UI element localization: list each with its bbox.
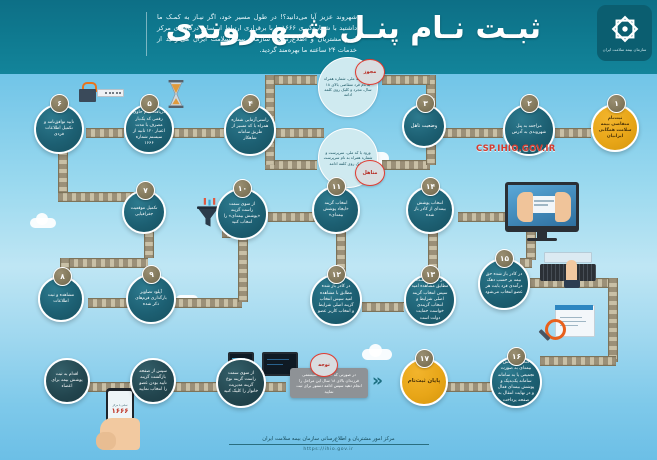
step-text: راستی‌آزمایی شماره همراه با کد مسیر از ط… (226, 118, 274, 143)
step-number-13: ۱۳ (421, 265, 440, 284)
step-number-7: ۷ (136, 181, 155, 200)
path-segment (170, 128, 224, 138)
badge-label: متاهل (363, 170, 378, 176)
step-number-8: ۸ (53, 267, 72, 286)
step-number-3: ۳ (416, 94, 435, 113)
step-number-6: ۶ (50, 94, 69, 113)
step-text: انتخاب پوشش بیمه‌ای از کادر باز شده (408, 201, 452, 220)
path-segment (174, 298, 242, 308)
badge-label: مجوز (364, 69, 377, 75)
attention-badge: توجه (310, 353, 338, 377)
header-subtitle: شهروند عزیز آیا می‌دانید؟! در طول مسیر خ… (146, 12, 357, 56)
step-text: در کادر باز شده مطابق با مشاهده امید سپس… (312, 284, 360, 315)
portal-url[interactable]: CSP.IHIO.GOV.IR (476, 144, 556, 154)
extra-node-text: اقدام به ثبت پوشش بیمه برای اعضاء (46, 372, 88, 391)
step-text: دریافت پیام حاوی رقمی کد یک‌بار مصرف با … (126, 110, 172, 147)
step-number-5: ۵ (140, 94, 159, 113)
footer-org: مرکز امور مشتریان و اطلاع‌رسانی سازمان ب… (0, 436, 657, 442)
logo-caption: سازمان بیمه سلامت ایران (603, 47, 647, 52)
cloud-icon (36, 213, 48, 225)
extra-node-a[interactable]: سپس از صفحه بازگشت گزینه تایید بودن عضو … (130, 358, 176, 404)
step-text: تایید توافق‌نامه و تکمیل اطلاعات فردی (36, 120, 82, 139)
step-number-16: ۱۶ (507, 347, 526, 366)
path-segment (60, 258, 148, 268)
phone-number: ۱۶۶۶ (111, 407, 128, 415)
step-text: تکمیل موقعیت جغرافیایی (124, 206, 164, 218)
path-segment (426, 145, 436, 165)
step-text: مشاهده و ثبت اطلاعات (40, 293, 82, 305)
organization-logo: سازمان بیمه سلامت ایران (597, 5, 652, 61)
footer-url[interactable]: https://ihio.gov.ir (0, 447, 657, 452)
step-text: در کادر باز شده مطابق مشاهده امید سپس ان… (406, 278, 454, 321)
step-number-14: ۱۴ (421, 177, 440, 196)
step-number-1: ۱ (607, 94, 626, 113)
path-segment (362, 302, 404, 312)
extra-node-c[interactable]: از منوی سمت راست گزینه نوع گزینه مدیریت … (216, 358, 266, 408)
path-segment (608, 278, 618, 362)
infographic-root: ثبـت نـام پنـل شـهـروندی شهروند عزیز آیا… (0, 0, 657, 460)
chevron-left-icon: « (372, 373, 383, 390)
footer-divider (229, 444, 429, 445)
cloud-icon (369, 344, 382, 357)
step-text: ثبت‌نام متقاضی بیمه سلامت همگانی ایرانیا… (593, 116, 637, 141)
step-number-12: ۱۲ (327, 265, 346, 284)
path-segment (264, 382, 286, 392)
step-text: پایان ثبت‌نام (403, 378, 446, 385)
step-text: مراجعه به پنل شهروندی به آدرس (505, 124, 553, 136)
path-segment (276, 128, 324, 138)
step-text: آپلود تصاویر بارگذاری فرم‌های ذکر شده (128, 290, 174, 309)
step-number-15: ۱۵ (495, 249, 514, 268)
path-segment (540, 356, 616, 366)
extra-node-b[interactable]: اقدام به ثبت پوشش بیمه برای اعضاء (44, 358, 90, 404)
step-number-10: ۱۰ (233, 179, 252, 198)
step-number-4: ۴ (241, 94, 260, 113)
status-badge-mojaz: مجوز (355, 59, 385, 85)
step-number-2: ۲ (520, 94, 539, 113)
step-number-17: ۱۷ (415, 349, 434, 368)
step-text: در کادر باز شده حق بیمه بر حسب دهک درآمد… (480, 272, 528, 297)
step-number-9: ۹ (142, 265, 161, 284)
star-medallion-icon (610, 14, 640, 44)
step-text: از منوی سمت راست گزینه «پوشش بیمه‌ای» را… (218, 202, 266, 227)
status-badge-motaahel: متاهل (355, 160, 385, 186)
step-number-11: ۱۱ (327, 177, 346, 196)
step-text: وضعیت تاهل (406, 123, 442, 130)
step-text: انتخاب پوشش بیمه‌ای به صورت تجمیعی یا به… (492, 360, 540, 403)
footer: مرکز امور مشتریان و اطلاع‌رسانی سازمان ب… (0, 436, 657, 452)
extra-node-text: سپس از صفحه بازگشت گزینه تایید بودن عضو … (132, 369, 174, 394)
path-segment (172, 382, 220, 392)
path-segment (382, 160, 430, 170)
badge-label: توجه (318, 362, 330, 368)
path-segment (382, 75, 430, 85)
path-segment (555, 128, 591, 138)
path-segment (86, 128, 124, 138)
hourglass-icon (166, 80, 186, 112)
step-text: انتخاب گزینه «ایجاد پوشش بیمه‌ای» (314, 201, 358, 220)
path-segment (443, 128, 503, 138)
extra-node-text: از منوی سمت راست گزینه نوع گزینه مدیریت … (218, 371, 264, 396)
